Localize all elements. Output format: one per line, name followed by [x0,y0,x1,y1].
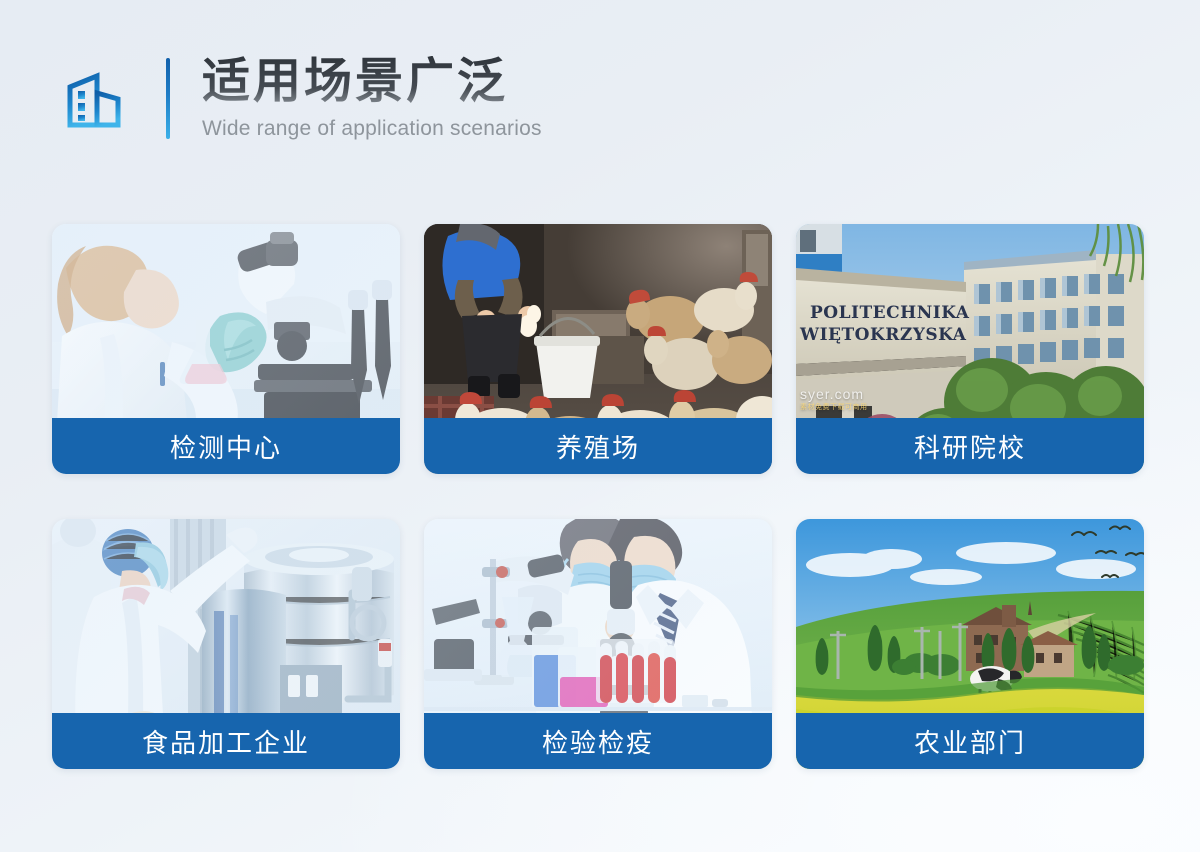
building-sign-line2: WIĘTOKRZYSKA [799,325,967,345]
card-label-research-institute: 科研院校 [796,418,1144,474]
header-divider [166,58,170,139]
scenario-card-inspection-quarantine[interactable]: 检验检疫 [424,519,772,769]
image-watermark: syer.com 素材免费下载可商用 [800,386,868,412]
application-scenarios-page: 适用场景广泛 Wide range of application scenari… [0,0,1200,852]
scenario-card-research-institute[interactable]: POLITECHNIKA WIĘTOKRZYSKA [796,224,1144,474]
scenario-card-grid: 检测中心 [52,224,1148,769]
page-title: 适用场景广泛 [202,56,542,108]
card-label-food-processing: 食品加工企业 [52,713,400,769]
scenario-card-food-processing[interactable]: 食品加工企业 [52,519,400,769]
building-sign-line1: POLITECHNIKA [810,303,970,323]
header-titles: 适用场景广泛 Wide range of application scenari… [202,56,542,141]
card-label-breeding-farm: 养殖场 [424,418,772,474]
scenario-card-testing-center[interactable]: 检测中心 [52,224,400,474]
scenario-card-breeding-farm[interactable]: 养殖场 [424,224,772,474]
section-header: 适用场景广泛 Wide range of application scenari… [62,56,542,141]
card-label-testing-center: 检测中心 [52,418,400,474]
page-subtitle: Wide range of application scenarios [202,117,542,141]
card-label-agriculture-department: 农业部门 [796,713,1144,769]
card-label-inspection-quarantine: 检验检疫 [424,713,772,769]
scenario-card-agriculture-department[interactable]: 农业部门 [796,519,1144,769]
building-icon [62,65,128,131]
